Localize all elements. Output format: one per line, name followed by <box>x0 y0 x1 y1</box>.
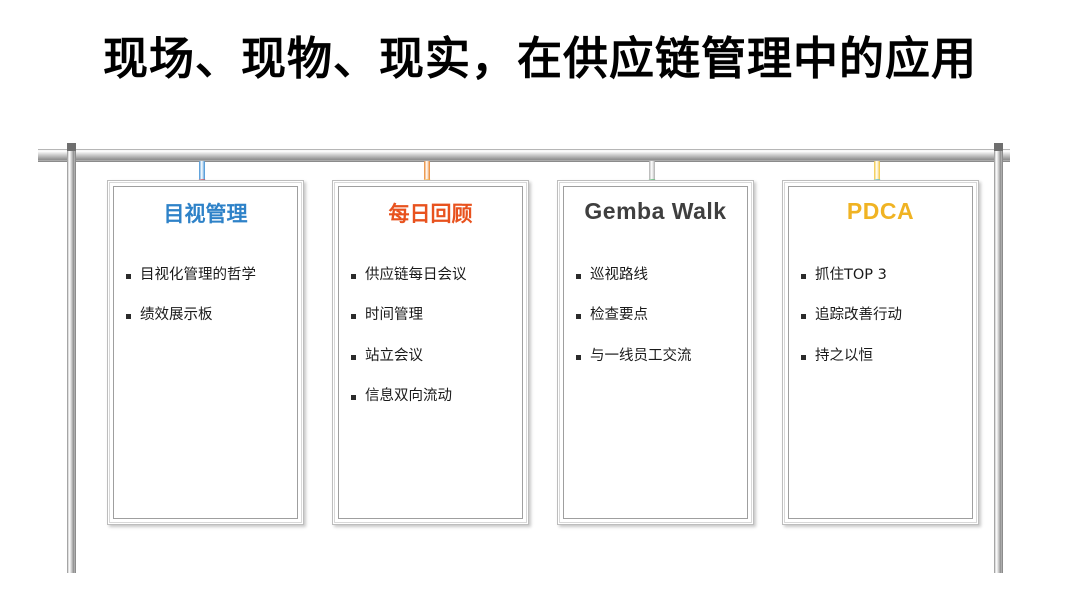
bullet-square-icon <box>801 274 806 279</box>
bullet-text: 抓住TOP 3 <box>815 267 966 284</box>
bullet-text: 目视化管理的哲学 <box>140 267 291 284</box>
bullet-text: 持之以恒 <box>815 348 966 365</box>
list-item: 持之以恒 <box>801 348 966 365</box>
card-title-daily-review: 每日回顾 <box>339 198 522 228</box>
bullet-list-daily-review: 供应链每日会议时间管理站立会议信息双向流动 <box>351 267 516 429</box>
card-title-gemba-walk: Gemba Walk <box>564 198 747 225</box>
bullet-square-icon <box>576 355 581 360</box>
list-item: 与一线员工交流 <box>576 348 741 365</box>
list-item: 追踪改善行动 <box>801 307 966 324</box>
bullet-text: 信息双向流动 <box>365 388 516 405</box>
bullet-square-icon <box>576 274 581 279</box>
bullet-square-icon <box>351 274 356 279</box>
bullet-square-icon <box>351 314 356 319</box>
card-pdca[interactable]: PDCA抓住TOP 3追踪改善行动持之以恒 <box>782 180 979 525</box>
card-daily-review[interactable]: 每日回顾供应链每日会议时间管理站立会议信息双向流动 <box>332 180 529 525</box>
bullet-square-icon <box>126 314 131 319</box>
list-item: 巡视路线 <box>576 267 741 284</box>
card-inner-frame: PDCA抓住TOP 3追踪改善行动持之以恒 <box>788 186 973 519</box>
bullet-square-icon <box>576 314 581 319</box>
bullet-square-icon <box>126 274 131 279</box>
card-title-pdca: PDCA <box>789 198 972 225</box>
card-inner-frame: 目视管理目视化管理的哲学绩效展示板 <box>113 186 298 519</box>
list-item: 时间管理 <box>351 307 516 324</box>
bullet-list-visual-management: 目视化管理的哲学绩效展示板 <box>126 267 291 348</box>
page-title: 现场、现物、现实，在供应链管理中的应用 <box>0 22 1080 87</box>
card-gemba-walk[interactable]: Gemba Walk巡视路线检查要点与一线员工交流 <box>557 180 754 525</box>
rack-post-cap-right <box>994 143 1003 151</box>
rack-post-left <box>67 143 76 573</box>
card-inner-frame: Gemba Walk巡视路线检查要点与一线员工交流 <box>563 186 748 519</box>
list-item: 目视化管理的哲学 <box>126 267 291 284</box>
card-visual-management[interactable]: 目视管理目视化管理的哲学绩效展示板 <box>107 180 304 525</box>
card-title-visual-management: 目视管理 <box>114 198 297 228</box>
bullet-text: 时间管理 <box>365 307 516 324</box>
bullet-square-icon <box>351 395 356 400</box>
rack-horizontal-beam <box>38 149 1010 162</box>
rack-post-right <box>994 143 1003 573</box>
card-inner-frame: 每日回顾供应链每日会议时间管理站立会议信息双向流动 <box>338 186 523 519</box>
bullet-text: 与一线员工交流 <box>590 348 741 365</box>
slide-canvas: 现场、现物、现实，在供应链管理中的应用 目视管理目视化管理的哲学绩效展示板每日回… <box>0 0 1080 608</box>
bullet-text: 巡视路线 <box>590 267 741 284</box>
bullet-square-icon <box>801 314 806 319</box>
list-item: 信息双向流动 <box>351 388 516 405</box>
bullet-square-icon <box>801 355 806 360</box>
list-item: 供应链每日会议 <box>351 267 516 284</box>
list-item: 站立会议 <box>351 348 516 365</box>
bullet-text: 站立会议 <box>365 348 516 365</box>
rack-post-cap-left <box>67 143 76 151</box>
list-item: 抓住TOP 3 <box>801 267 966 284</box>
bullet-list-pdca: 抓住TOP 3追踪改善行动持之以恒 <box>801 267 966 388</box>
bullet-text: 追踪改善行动 <box>815 307 966 324</box>
bullet-text: 绩效展示板 <box>140 307 291 324</box>
list-item: 检查要点 <box>576 307 741 324</box>
bullet-list-gemba-walk: 巡视路线检查要点与一线员工交流 <box>576 267 741 388</box>
list-item: 绩效展示板 <box>126 307 291 324</box>
bullet-text: 供应链每日会议 <box>365 267 516 284</box>
bullet-square-icon <box>351 355 356 360</box>
bullet-text: 检查要点 <box>590 307 741 324</box>
